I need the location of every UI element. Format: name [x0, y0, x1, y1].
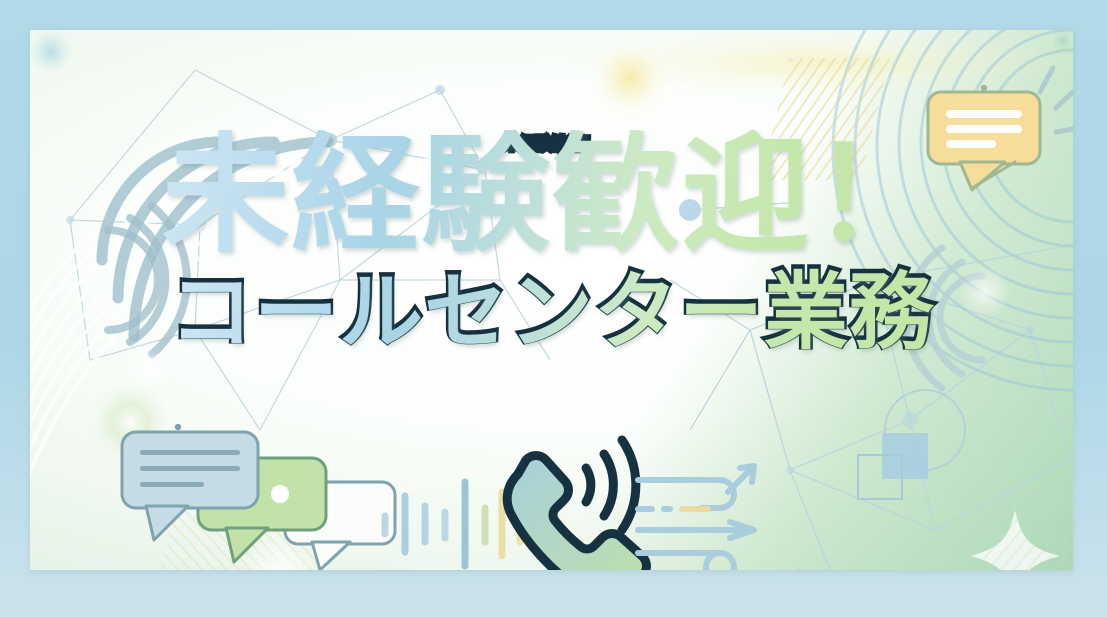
speech-bubble-white-icon — [285, 482, 395, 570]
overlapping-squares-icon — [858, 433, 928, 499]
diagonal-hatch-stripes-icon — [930, 485, 1073, 570]
phone-handset-with-signal-icon — [507, 440, 646, 570]
headline-line1: 未経験歓迎！ — [161, 130, 941, 262]
circle-outline-icon — [885, 390, 965, 470]
headline-line1-wrap: 未経験歓迎！ 未経験歓迎！ — [161, 130, 941, 262]
headline-block: 未経験歓迎！ 未経験歓迎！ コールセンター業務 コールセンター業務 — [30, 130, 1073, 360]
data-flow-abstract-icon — [638, 466, 800, 570]
diagonal-hatch-stripes-icon — [160, 480, 330, 570]
speech-bubble-green-icon — [198, 458, 326, 562]
headline-line2-wrap: コールセンター業務 コールセンター業務 — [169, 262, 934, 360]
headline-line2: コールセンター業務 — [169, 264, 934, 360]
speech-bubble-blue-icon — [122, 424, 258, 540]
banner-root: 未経験歓迎！ 未経験歓迎！ コールセンター業務 コールセンター業務 — [0, 0, 1107, 617]
four-point-sparkle-icon — [970, 510, 1060, 570]
banner-card: 未経験歓迎！ 未経験歓迎！ コールセンター業務 コールセンター業務 — [30, 30, 1073, 570]
audio-waveform-icon — [385, 482, 538, 566]
